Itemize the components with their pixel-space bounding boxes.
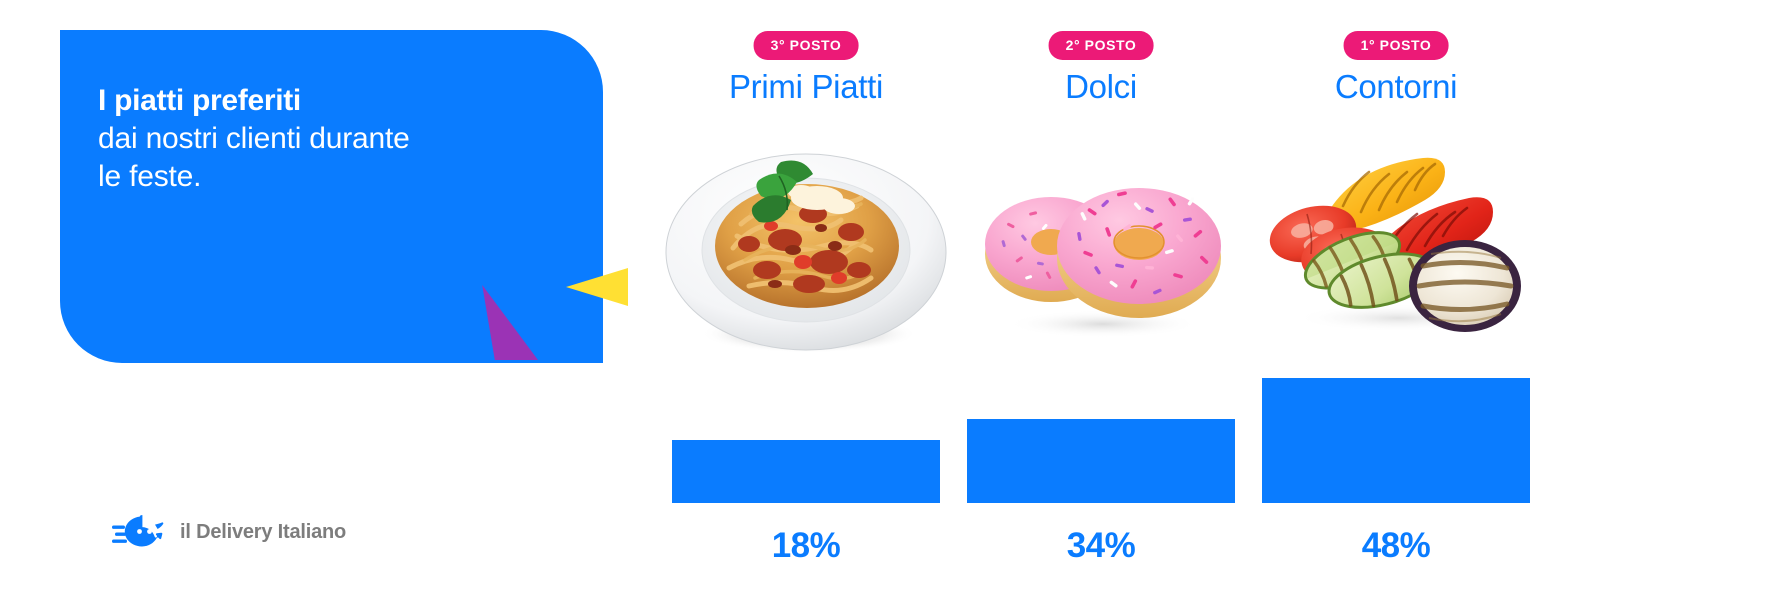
category-title-dolci: Dolci [1065,68,1137,106]
rank-badge-1: 1° POSTO [1344,31,1449,60]
rank-badge-2: 2° POSTO [1049,31,1154,60]
infographic-canvas: I piatti preferiti dai nostri clienti du… [0,0,1785,598]
rank-column-dolci: 2° POSTO Dolci [955,0,1247,598]
brand-logo: il Delivery Italiano [112,512,346,552]
category-title-contorni: Contorni [1335,68,1457,106]
delivery-bird-icon [112,512,166,552]
headline-text-block: I piatti preferiti dai nostri clienti du… [98,82,568,196]
headline-card: I piatti preferiti dai nostri clienti du… [60,30,603,363]
headline-line-3: le feste. [98,158,568,196]
pasta-bolognese-photo [663,128,949,360]
percent-primi-piatti: 18% [772,526,841,566]
pink-donuts-photo [975,162,1227,340]
bar-dolci [967,419,1235,503]
logo-wordmark: il Delivery Italiano [180,521,346,544]
bar-primi-piatti [672,440,940,503]
bar-contorni [1262,378,1530,503]
rank-badge-3: 3° POSTO [754,31,859,60]
rank-column-contorni: 1° POSTO Contorni [1250,0,1542,598]
percent-contorni: 48% [1362,526,1431,566]
headline-line-2: dai nostri clienti durante [98,120,568,158]
yellow-triangle-icon [566,268,628,306]
percent-dolci: 34% [1067,526,1136,566]
category-title-primi-piatti: Primi Piatti [729,68,883,106]
headline-line-1: I piatti preferiti [98,82,568,120]
grilled-vegetables-photo [1265,148,1527,334]
rank-column-primi-piatti: 3° POSTO Primi Piatti [660,0,952,598]
